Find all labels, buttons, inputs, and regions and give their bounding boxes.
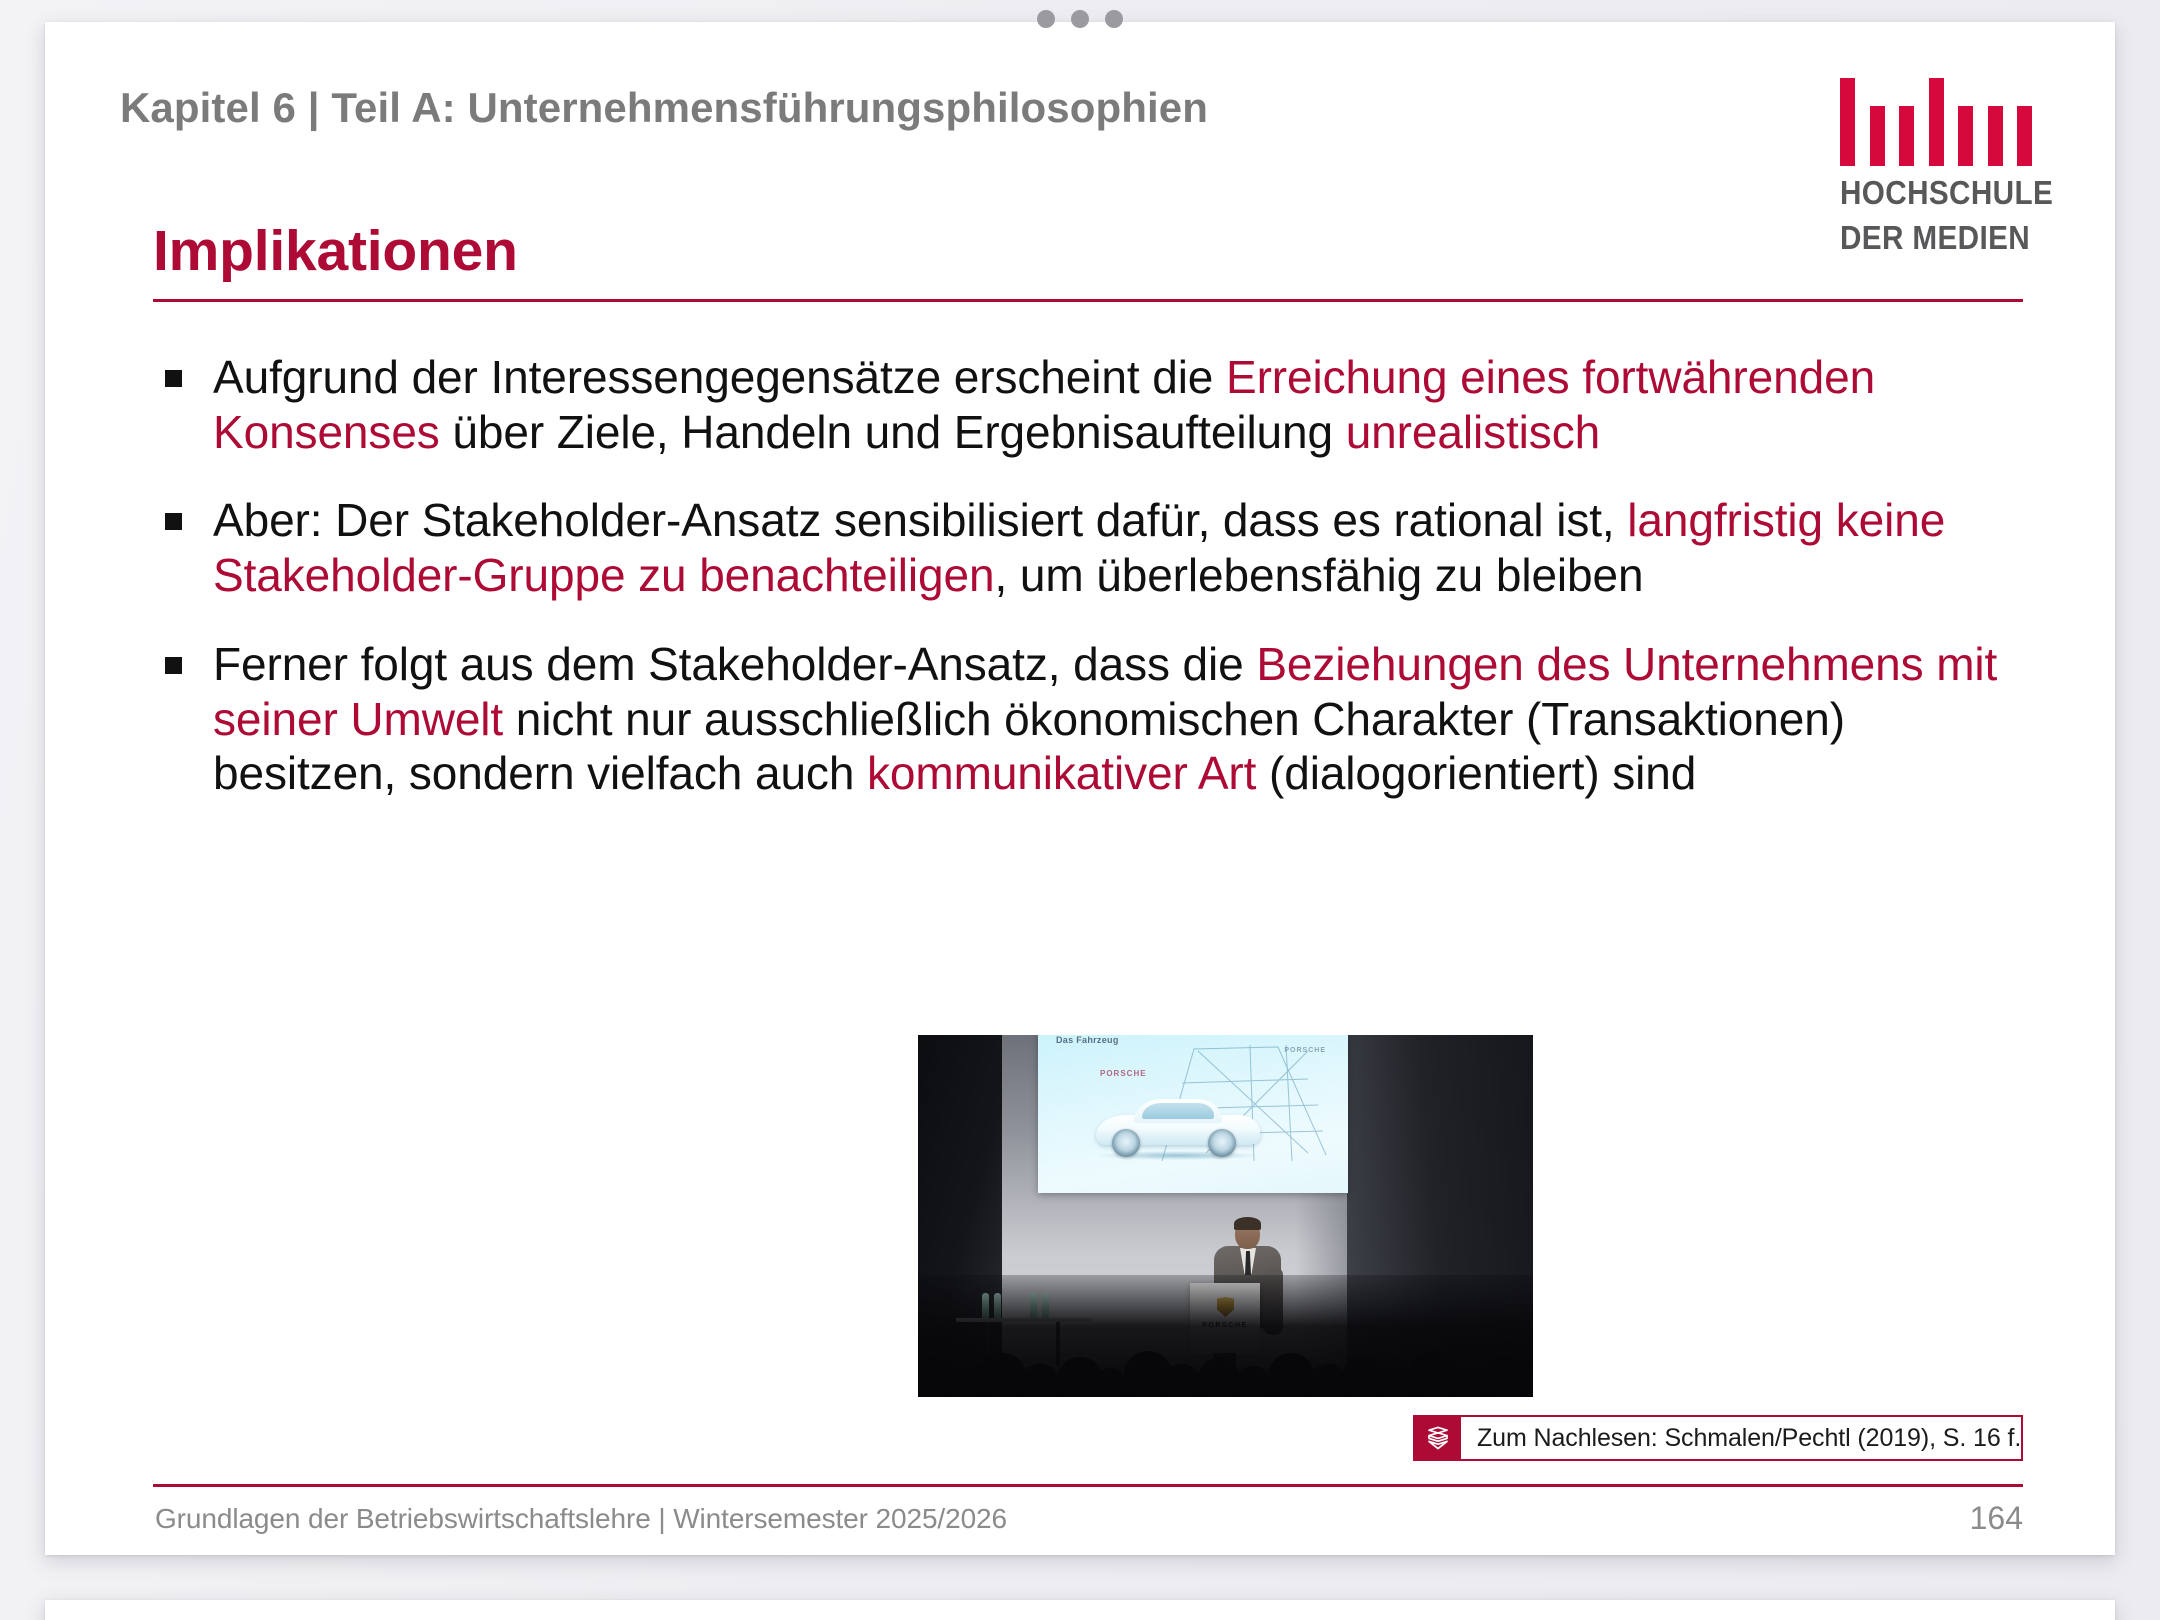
audience-head (1452, 1363, 1488, 1397)
slide-card[interactable]: Kapitel 6 | Teil A: Unternehmensführungs… (45, 22, 2115, 1555)
audience-head (980, 1353, 1026, 1397)
slide-title-block: Implikationen (153, 220, 2023, 302)
list-item: Aber: Der Stakeholder-Ansatz sensibilisi… (155, 493, 2027, 602)
page-number: 164 (1970, 1500, 2023, 1537)
dot-1 (1037, 10, 1055, 28)
list-item-text: Aufgrund der Interessengegensätze ersche… (213, 351, 1875, 458)
slide-deck-viewer[interactable]: Kapitel 6 | Teil A: Unternehmensführungs… (0, 0, 2160, 1620)
plain-phrase: (dialogorientiert) sind (1256, 747, 1696, 799)
logo-bar-3 (1899, 106, 1914, 166)
porsche-press-conference-photo: Das Fahrzeug PORSCHE (918, 1035, 1533, 1397)
list-item-text: Ferner folgt aus dem Stakeholder-Ansatz,… (213, 638, 1997, 799)
next-slide-card[interactable] (45, 1600, 2115, 1620)
highlighted-phrase: unrealistisch (1346, 406, 1600, 458)
slide-footer: Grundlagen der Betriebswirtschaftslehre … (155, 1500, 2023, 1537)
car-glass (1142, 1103, 1214, 1119)
square-bullet-icon (165, 657, 182, 674)
title-divider (153, 299, 2023, 302)
audience-head (1198, 1358, 1240, 1397)
course-label: Grundlagen der Betriebswirtschaftslehre … (155, 1503, 1007, 1535)
car-wheel-front (1112, 1129, 1140, 1157)
audience-head (1022, 1364, 1058, 1397)
audience-head (1310, 1364, 1346, 1397)
slide-header: Kapitel 6 | Teil A: Unternehmensführungs… (120, 70, 2040, 220)
list-item-text: Aber: Der Stakeholder-Ansatz sensibilisi… (213, 494, 1945, 601)
audience-silhouettes (918, 1275, 1533, 1397)
logo-bar-2 (1870, 106, 1885, 166)
logo-bar-4 (1929, 78, 1944, 166)
bullet-list: Aufgrund der Interessengegensätze ersche… (155, 350, 2027, 801)
audience-head (1342, 1356, 1386, 1397)
list-item: Ferner folgt aus dem Stakeholder-Ansatz,… (155, 637, 2027, 801)
audience-head (1236, 1366, 1270, 1397)
page-title: Implikationen (153, 220, 2023, 283)
square-bullet-icon (165, 370, 182, 387)
highlighted-phrase: kommunikativer Art (867, 747, 1256, 799)
logo-bar-5 (1958, 106, 1973, 166)
photo-scene: Das Fahrzeug PORSCHE (918, 1035, 1533, 1397)
square-bullet-icon (165, 513, 182, 530)
speaker-hair (1234, 1217, 1261, 1230)
projection-caption: Das Fahrzeug (1056, 1035, 1119, 1045)
citation-box[interactable]: Zum Nachlesen: Schmalen/Pechtl (2019), S… (1413, 1415, 2023, 1461)
logo-bar-1 (1840, 78, 1855, 166)
more-dots-handle[interactable] (0, 10, 2160, 28)
plain-phrase: über Ziele, Handeln und Ergebnisaufteilu… (440, 406, 1346, 458)
audience-head (1094, 1368, 1126, 1397)
footer-divider (153, 1484, 2023, 1487)
plain-phrase: Ferner folgt aus dem Stakeholder-Ansatz,… (213, 638, 1256, 690)
hdm-logo-bars (1840, 78, 2032, 166)
audience-head (1164, 1364, 1200, 1397)
logo-bar-6 (1988, 106, 2003, 166)
dot-2 (1071, 10, 1089, 28)
taycan-illustration (1090, 1095, 1265, 1161)
hdm-wordmark-line1: HOCHSCHULE (1840, 175, 2018, 211)
plain-phrase: , um überlebensfähig zu bleiben (994, 549, 1643, 601)
car-wheel-rear (1208, 1129, 1236, 1157)
audience-head (948, 1367, 982, 1397)
dot-3 (1105, 10, 1123, 28)
audience-head (1380, 1367, 1412, 1397)
projection-porsche-wordmark: PORSCHE (1100, 1069, 1147, 1078)
audience-head (1268, 1353, 1314, 1397)
citation-text: Zum Nachlesen: Schmalen/Pechtl (2019), S… (1461, 1417, 2021, 1459)
book-stack-icon (1415, 1417, 1461, 1459)
plain-phrase: Aufgrund der Interessengegensätze ersche… (213, 351, 1226, 403)
audience-head (1410, 1351, 1458, 1397)
plain-phrase: Aber: Der Stakeholder-Ansatz sensibilisi… (213, 494, 1627, 546)
list-item: Aufgrund der Interessengegensätze ersche… (155, 350, 2027, 459)
logo-bar-7 (2017, 106, 2032, 166)
projection-screen: Das Fahrzeug PORSCHE (1038, 1035, 1348, 1193)
chapter-title: Kapitel 6 | Teil A: Unternehmensführungs… (120, 84, 1208, 132)
